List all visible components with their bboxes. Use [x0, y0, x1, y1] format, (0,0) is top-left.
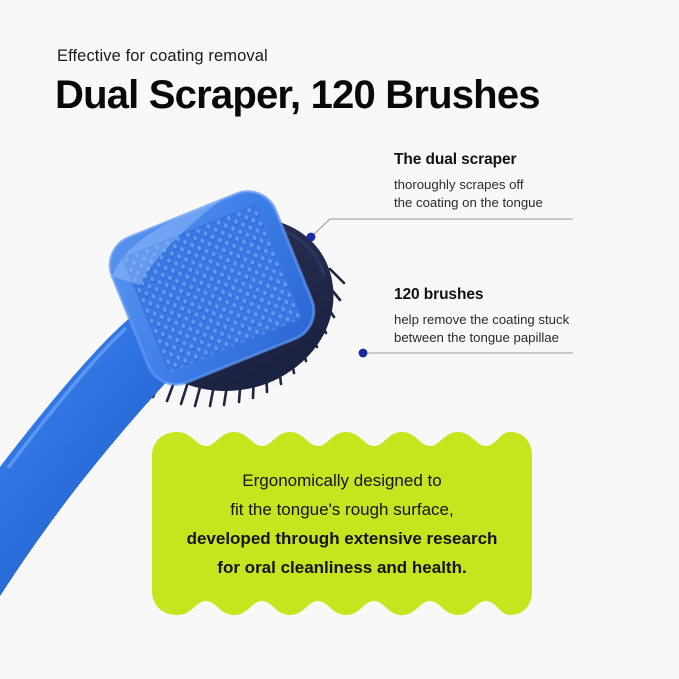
infographic-canvas: Effective for coating removal Dual Scrap… [0, 0, 679, 679]
callout-body-line: between the tongue papillae [394, 329, 569, 347]
page-title: Dual Scraper, 120 Brushes [55, 73, 540, 118]
green-panel-line: developed through extensive research [187, 524, 498, 553]
green-panel-line: Ergonomically designed to [242, 466, 441, 495]
callout-dual-scraper: The dual scraper thoroughly scrapes off … [394, 151, 543, 211]
green-panel-line: for oral cleanliness and health. [217, 553, 466, 582]
green-callout-panel: Ergonomically designed to fit the tongue… [152, 424, 532, 623]
callout-120-brushes: 120 brushes help remove the coating stuc… [394, 286, 569, 346]
green-panel-text: Ergonomically designed to fit the tongue… [152, 424, 532, 623]
green-panel-line: fit the tongue's rough surface, [230, 495, 453, 524]
callout-title-120-brushes: 120 brushes [394, 286, 569, 304]
callout-body-dual-scraper: thoroughly scrapes off the coating on th… [394, 176, 543, 211]
callout-body-line: help remove the coating stuck [394, 311, 569, 329]
eyebrow-text: Effective for coating removal [57, 47, 268, 66]
callout-body-line: the coating on the tongue [394, 194, 543, 212]
callout-body-120-brushes: help remove the coating stuck between th… [394, 311, 569, 346]
callout-title-dual-scraper: The dual scraper [394, 151, 543, 169]
callout-body-line: thoroughly scrapes off [394, 176, 543, 194]
